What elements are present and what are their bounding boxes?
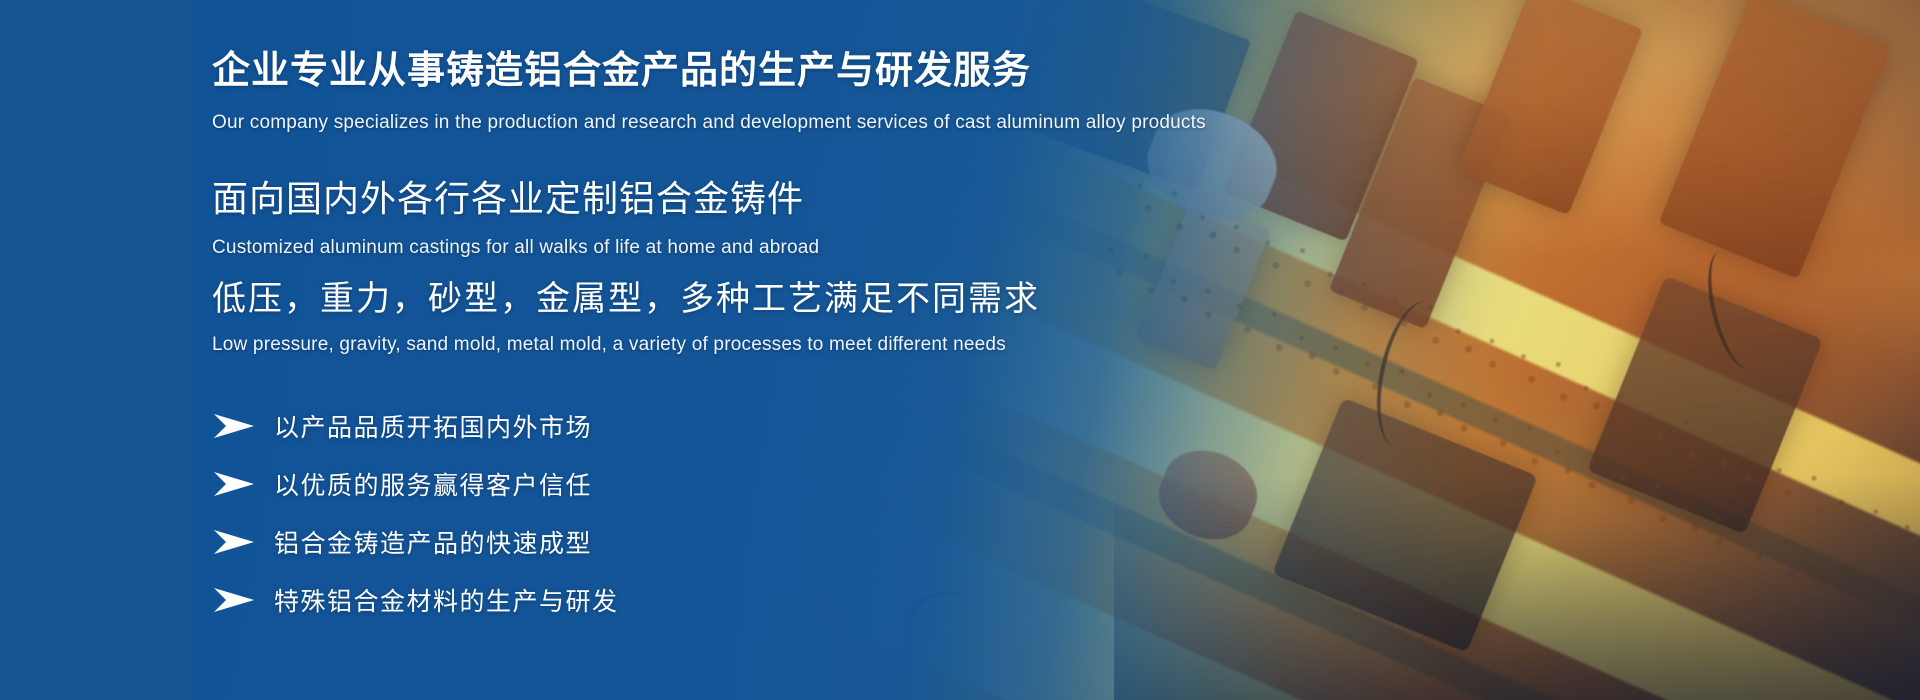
arrow-right-icon: [212, 471, 256, 497]
list-item[interactable]: 以优质的服务赢得客户信任: [212, 455, 1920, 513]
arrow-right-icon: [212, 529, 256, 555]
list-item-label: 特殊铝合金材料的生产与研发: [274, 582, 619, 618]
headline-en-1: Our company specializes in the productio…: [212, 110, 1920, 137]
list-item[interactable]: 铝合金铸造产品的快速成型: [212, 513, 1920, 571]
list-item-label: 以优质的服务赢得客户信任: [274, 466, 592, 502]
list-item[interactable]: 特殊铝合金材料的生产与研发: [212, 571, 1920, 629]
headline-block-3: 低压，重力，砂型，金属型，多种工艺满足不同需求 Low pressure, gr…: [212, 278, 1920, 359]
headline-cn-3: 低压，重力，砂型，金属型，多种工艺满足不同需求: [212, 278, 1920, 321]
headline-cn-2: 面向国内外各行各业定制铝合金铸件: [212, 176, 1920, 221]
list-item-label: 以产品品质开拓国内外市场: [274, 408, 592, 444]
headline-cn-1: 企业专业从事铸造铝合金产品的生产与研发服务: [212, 48, 1920, 96]
headline-block-2: 面向国内外各行各业定制铝合金铸件 Customized aluminum cas…: [212, 176, 1920, 262]
banner-content: 企业专业从事铸造铝合金产品的生产与研发服务 Our company specia…: [0, 0, 1920, 700]
arrow-right-icon: [212, 587, 256, 613]
headline-en-2: Customized aluminum castings for all wal…: [212, 235, 1920, 262]
list-item-label: 铝合金铸造产品的快速成型: [274, 524, 592, 560]
list-item[interactable]: 以产品品质开拓国内外市场: [212, 397, 1920, 455]
headline-en-3: Low pressure, gravity, sand mold, metal …: [212, 332, 1920, 359]
arrow-right-icon: [212, 413, 256, 439]
feature-list: 以产品品质开拓国内外市场 以优质的服务赢得客户信任 铝合金铸造产品的快速成型: [212, 397, 1920, 629]
headline-block-1: 企业专业从事铸造铝合金产品的生产与研发服务 Our company specia…: [212, 48, 1920, 136]
hero-banner: 企业专业从事铸造铝合金产品的生产与研发服务 Our company specia…: [0, 0, 1920, 700]
